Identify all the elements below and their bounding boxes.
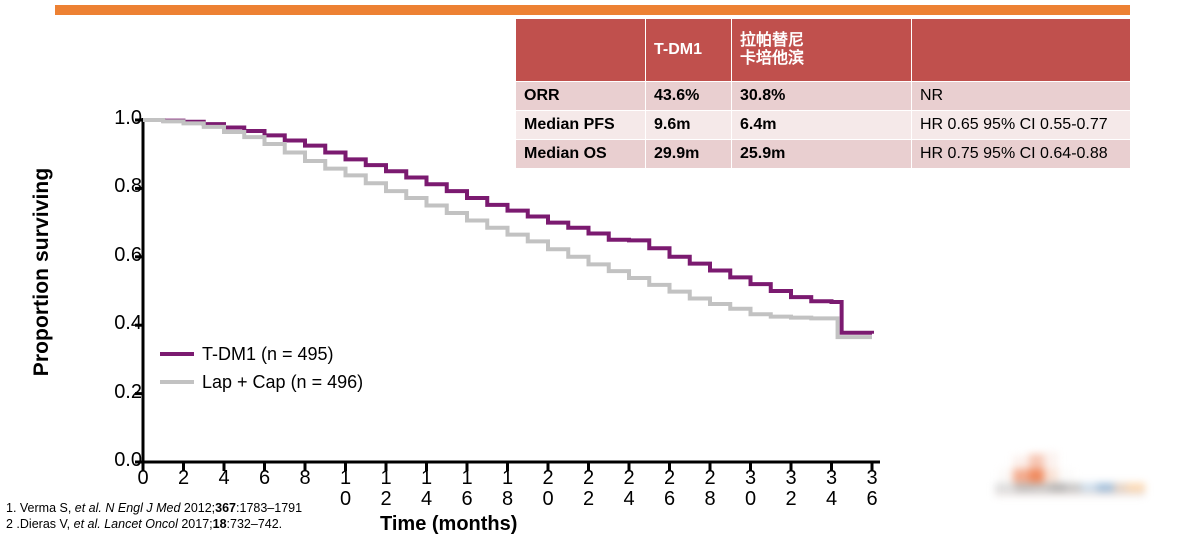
y-tick-label: 0.6	[88, 244, 142, 267]
ref1-volume: 367	[215, 501, 236, 515]
x-axis-title: Time (months)	[380, 513, 517, 536]
cell-orr-note: NR	[912, 82, 1131, 111]
ref1-journal: N Engl J Med	[102, 501, 184, 515]
y-axis-tick-labels: 0.00.20.40.60.81.0	[88, 100, 142, 462]
legend-label: T-DM1 (n = 495)	[202, 344, 334, 365]
ref1-year: 2012;	[184, 501, 215, 515]
legend-color-swatch	[160, 380, 194, 384]
survival-chart: Proportion surviving 0.00.20.40.60.81.0 …	[0, 100, 900, 520]
cell-pfs-note: HR 0.65 95% CI 0.55-0.77	[912, 110, 1131, 139]
y-tick-label: 0.2	[88, 381, 142, 404]
ref2-journal: Lancet Oncol	[101, 517, 182, 531]
footnote-reference-2: 2 .Dieras V, et al. Lancet Oncol 2017;18…	[6, 516, 302, 532]
x-tick-label: 0	[131, 468, 155, 489]
cell-os-note: HR 0.75 95% CI 0.64-0.88	[912, 139, 1131, 168]
ref1-etal: et al.	[75, 501, 102, 515]
header-lapcap-line2: 卡培他滨	[740, 50, 903, 68]
legend-label: Lap + Cap (n = 496)	[202, 372, 363, 393]
y-axis-title: Proportion surviving	[30, 142, 54, 402]
ref2-prefix: 2 .Dieras V,	[6, 517, 74, 531]
x-tick-label: 14	[415, 468, 439, 510]
x-tick-label: 2	[172, 468, 196, 489]
ref2-year: 2017;	[181, 517, 212, 531]
x-tick-label: 32	[779, 468, 803, 510]
ref1-pages: :1783–1791	[236, 501, 302, 515]
x-tick-label: 16	[455, 468, 479, 510]
header-cell-lapcap: 拉帕替尼 卡培他滨	[732, 19, 912, 82]
x-tick-label: 24	[617, 468, 641, 510]
x-tick-label: 10	[334, 468, 358, 510]
legend-color-swatch	[160, 352, 194, 356]
ref1-prefix: 1. Verma S,	[6, 501, 75, 515]
header-cell-tdm1: T-DM1	[646, 19, 732, 82]
header-lapcap-line1: 拉帕替尼	[740, 32, 903, 50]
legend-item: T-DM1 (n = 495)	[160, 340, 363, 368]
x-tick-label: 30	[739, 468, 763, 510]
legend-item: Lap + Cap (n = 496)	[160, 368, 363, 396]
slide-canvas: T-DM1 拉帕替尼 卡培他滨 ORR 43.6% 30.8% NR Media…	[0, 0, 1184, 538]
x-tick-label: 8	[293, 468, 317, 489]
x-tick-label: 28	[698, 468, 722, 510]
ref2-pages: :732–742.	[227, 517, 283, 531]
header-cell-blank	[516, 19, 646, 82]
company-logo-watermark	[995, 448, 1145, 496]
x-tick-label: 20	[536, 468, 560, 510]
x-tick-label: 36	[860, 468, 884, 510]
y-tick-label: 0.8	[88, 175, 142, 198]
ref2-volume: 18	[213, 517, 227, 531]
footnotes: 1. Verma S, et al. N Engl J Med 2012;367…	[6, 500, 302, 532]
chart-legend: T-DM1 (n = 495)Lap + Cap (n = 496)	[160, 340, 363, 396]
x-tick-label: 6	[253, 468, 277, 489]
y-tick-label: 0.4	[88, 312, 142, 335]
footnote-reference-1: 1. Verma S, et al. N Engl J Med 2012;367…	[6, 500, 302, 516]
x-tick-label: 4	[212, 468, 236, 489]
x-tick-label: 18	[496, 468, 520, 510]
x-tick-label: 12	[374, 468, 398, 510]
table-header-row: T-DM1 拉帕替尼 卡培他滨	[516, 19, 1131, 82]
header-accent-bar	[55, 5, 1130, 15]
ref2-etal: et al.	[74, 517, 101, 531]
x-tick-label: 34	[820, 468, 844, 510]
y-tick-label: 1.0	[88, 107, 142, 130]
x-tick-label: 26	[658, 468, 682, 510]
x-tick-label: 22	[577, 468, 601, 510]
header-cell-stats	[912, 19, 1131, 82]
